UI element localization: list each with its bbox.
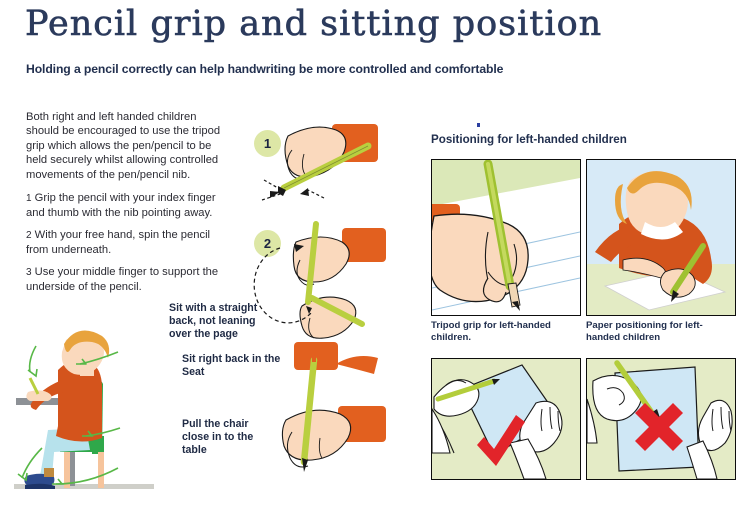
incorrect-artwork	[587, 359, 735, 479]
caption-tripod-grip: Tripod grip for left-handed children.	[431, 320, 586, 343]
step2-pencil-vertical	[308, 224, 316, 302]
step-1-illustration	[262, 124, 378, 200]
step-1-text: Grip the pencil with your index finger a…	[26, 192, 216, 219]
step3-upper-sleeve-fragment	[336, 356, 378, 374]
step-2-number: 2	[26, 230, 32, 241]
correct-artwork	[432, 359, 580, 479]
intro-paragraph: Both right and left handed children shou…	[26, 110, 224, 182]
step3-guide	[288, 376, 294, 408]
instruction-step-1: 1 Grip the pencil with your index finger…	[26, 191, 224, 221]
arrow-to-hand	[30, 346, 36, 372]
arrowhead-foot	[18, 473, 27, 480]
seated-child-figure	[14, 300, 264, 500]
sitting-position-illustration: Sit with a straight back, not leaning ov…	[14, 300, 264, 500]
step-2-text: With your free hand, spin the pencil fro…	[26, 229, 210, 256]
arrowhead-hand	[28, 369, 37, 376]
arrow-to-foot	[22, 448, 42, 478]
chair-leg-back	[98, 452, 104, 488]
intro-text-block: Both right and left handed children shou…	[26, 110, 224, 301]
panel-incorrect-positioning	[586, 358, 736, 480]
caption-paper-positioning: Paper positioning for left-handed childr…	[586, 320, 726, 343]
step1-arrow-c	[308, 190, 324, 198]
step-2-illustration	[254, 224, 386, 370]
step3-hand	[282, 410, 350, 460]
step-3-text: Use your middle finger to support the un…	[26, 266, 218, 293]
infographic-page: Pencil grip and sitting position Holding…	[0, 0, 744, 512]
grip-step-illustrations	[246, 120, 426, 480]
instruction-step-3: 3 Use your middle finger to support the …	[26, 265, 224, 295]
step3-top-speck	[312, 356, 316, 362]
right-section-heading: Positioning for left-handed children	[431, 133, 627, 146]
page-subtitle: Holding a pencil correctly can help hand…	[26, 62, 503, 76]
panel-correct-positioning	[431, 358, 581, 480]
step1-arrowhead-c	[300, 188, 309, 196]
tripod-grip-artwork	[432, 160, 580, 315]
instruction-step-2: 2 With your free hand, spin the pencil f…	[26, 228, 224, 258]
panel-tripod-grip	[431, 159, 581, 316]
step-3-number: 3	[26, 267, 32, 278]
heading-dot-marker	[477, 123, 480, 127]
grip-steps-column: 1 2 3	[246, 120, 426, 480]
step-1-number: 1	[26, 193, 32, 204]
paper-positioning-artwork	[587, 160, 735, 315]
step-3-illustration	[282, 356, 386, 472]
page-title: Pencil grip and sitting position	[25, 4, 602, 44]
step1-arrow-a	[264, 180, 278, 188]
neck	[80, 366, 94, 376]
sock	[44, 468, 54, 477]
panel-paper-positioning	[586, 159, 736, 316]
step2-hand-top	[293, 237, 349, 282]
